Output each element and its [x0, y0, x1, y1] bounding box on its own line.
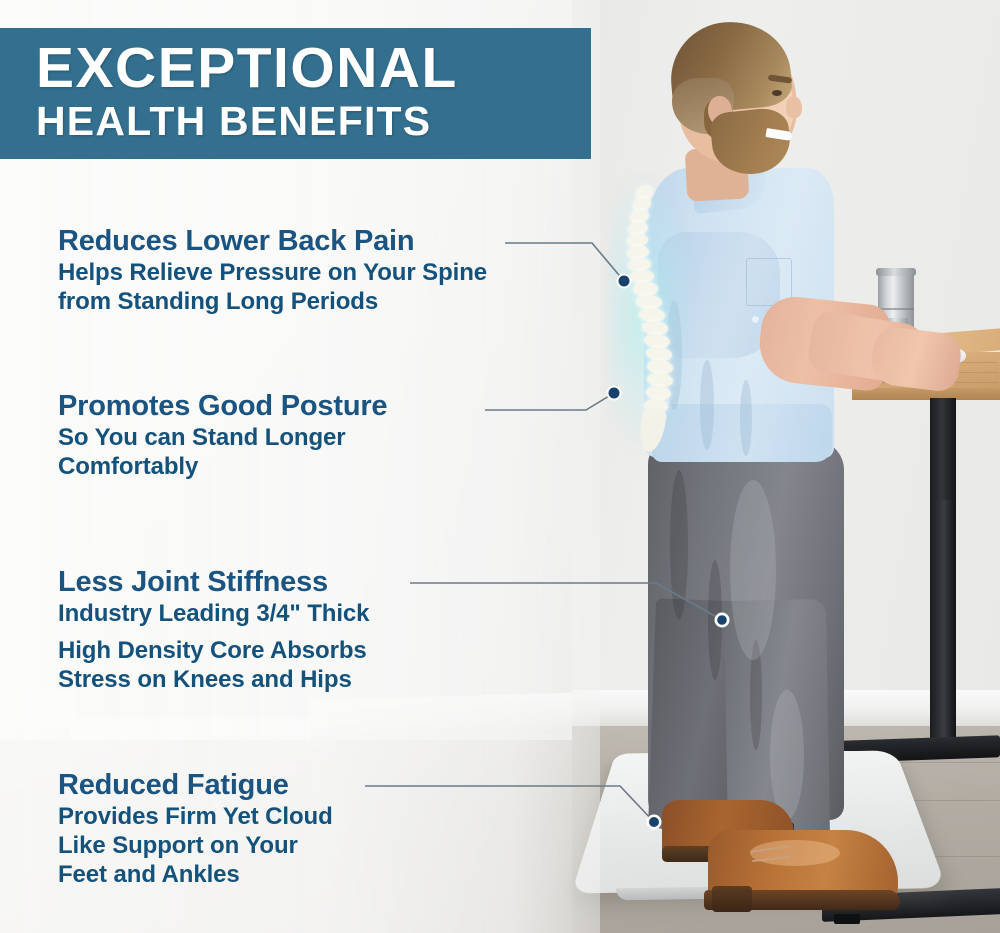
- benefit-line: High Density Core Absorbs: [58, 636, 369, 665]
- shoe-highlight: [750, 840, 840, 866]
- vertebra: [633, 282, 658, 296]
- eye: [772, 90, 782, 96]
- hand-on-keyboard: [869, 325, 963, 393]
- benefit-line: Comfortably: [58, 452, 387, 481]
- benefit-line: Helps Relieve Pressure on Your Spine: [58, 258, 487, 287]
- shirt-button: [752, 316, 759, 323]
- benefit-title: Less Joint Stiffness: [58, 565, 369, 599]
- benefit-line: Industry Leading 3/4" Thick: [58, 599, 369, 628]
- benefit-title: Reduced Fatigue: [58, 768, 333, 802]
- trouser-fold: [708, 560, 722, 680]
- headline-line-2: HEALTH BENEFITS: [36, 98, 591, 144]
- benefit-block-4: Reduced Fatigue Provides Firm Yet Cloud …: [58, 768, 333, 889]
- headline-banner: EXCEPTIONAL HEALTH BENEFITS: [0, 28, 591, 159]
- benefit-title: Reduces Lower Back Pain: [58, 224, 487, 258]
- benefit-title: Promotes Good Posture: [58, 389, 387, 423]
- benefit-line: from Standing Long Periods: [58, 287, 487, 316]
- standing-person: [600, 0, 940, 933]
- trouser-highlight: [770, 690, 804, 820]
- trouser-fold: [670, 470, 688, 620]
- trouser-highlight: [730, 480, 776, 660]
- benefit-line: So You can Stand Longer: [58, 423, 387, 452]
- benefit-line: Provides Firm Yet Cloud: [58, 802, 333, 831]
- benefit-line: Feet and Ankles: [58, 860, 333, 889]
- nose: [786, 96, 802, 118]
- benefit-line: Like Support on Your: [58, 831, 333, 860]
- benefit-block-2: Promotes Good Posture So You can Stand L…: [58, 389, 387, 481]
- benefit-block-1: Reduces Lower Back Pain Helps Relieve Pr…: [58, 224, 487, 316]
- infographic-canvas: EXCEPTIONAL HEALTH BENEFITS Reduces Lowe…: [0, 0, 1000, 933]
- benefit-line: Stress on Knees and Hips: [58, 665, 369, 694]
- benefit-block-3: Less Joint Stiffness Industry Leading 3/…: [58, 565, 369, 694]
- shoe-heel: [712, 886, 752, 912]
- headline-line-1: EXCEPTIONAL: [36, 38, 591, 98]
- shirt-fold: [700, 360, 714, 450]
- shirt-fold: [740, 380, 752, 456]
